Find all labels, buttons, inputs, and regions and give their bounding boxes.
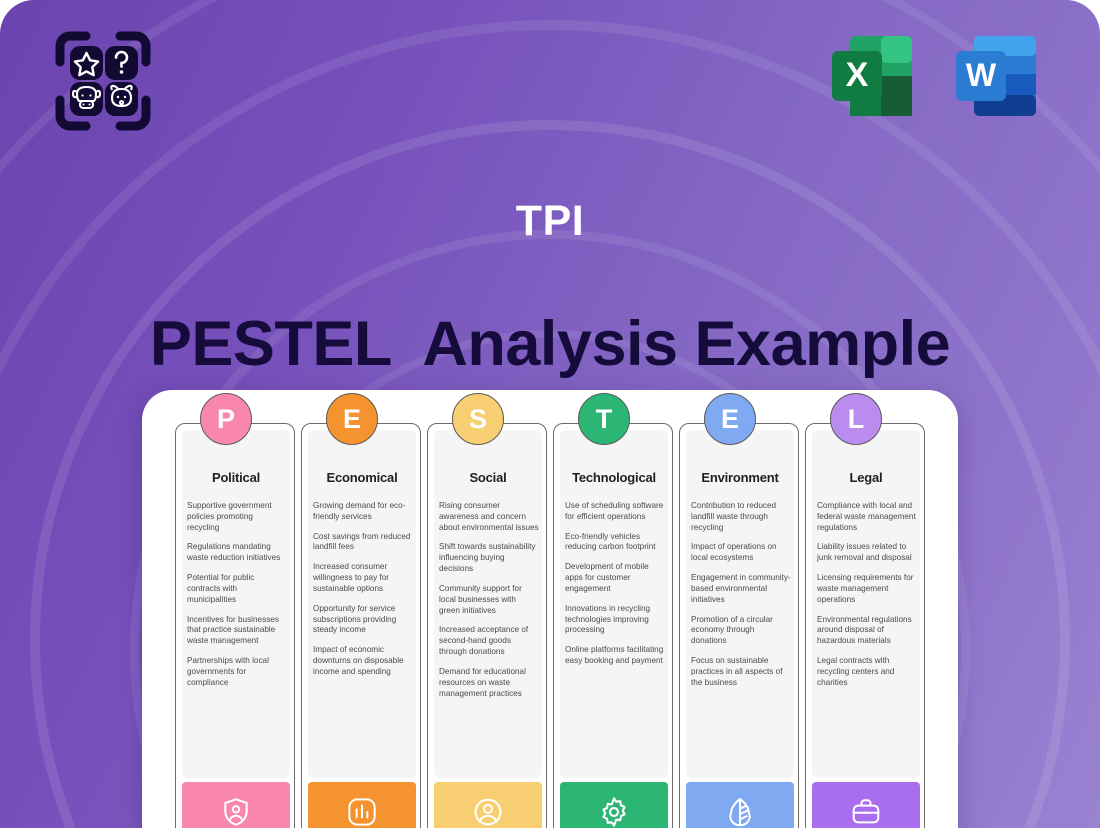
list-item: Partnerships with local governments for … — [187, 656, 287, 688]
column-bullet-list: Use of scheduling software for efficient… — [565, 501, 665, 676]
word-icon-letter: W — [966, 57, 997, 93]
list-item: Legal contracts with recycling centers a… — [817, 656, 917, 688]
list-item: Compliance with local and federal waste … — [817, 501, 917, 533]
pestel-column: EnvironmentContribution to reduced landf… — [676, 423, 802, 828]
list-item: Online platforms facilitating easy booki… — [565, 645, 665, 667]
pestel-column: LegalCompliance with local and federal w… — [802, 423, 928, 828]
list-item: Innovations in recycling technologies im… — [565, 604, 665, 636]
list-item: Demand for educational resources on wast… — [439, 667, 539, 699]
column-bullet-list: Supportive government policies promoting… — [187, 501, 287, 698]
list-item: Eco-friendly vehicles reducing carbon fo… — [565, 532, 665, 554]
pestel-column: PoliticalSupportive government policies … — [172, 423, 298, 828]
list-item: Regulations mandating waste reduction in… — [187, 542, 287, 564]
page-title: PESTEL Analysis Example — [0, 310, 1100, 379]
list-item: Environmental regulations around disposa… — [817, 615, 917, 647]
list-item: Development of mobile apps for customer … — [565, 562, 665, 594]
presentation-slide: X W TPI PESTEL Analysis Example Politica… — [0, 0, 1100, 828]
column-card-environment[interactable]: EnvironmentContribution to reduced landf… — [679, 423, 799, 828]
column-bullet-list: Compliance with local and federal waste … — [817, 501, 917, 698]
excel-icon[interactable]: X — [822, 26, 922, 126]
column-letter-badge: S — [452, 393, 504, 445]
excel-icon-letter: X — [846, 56, 869, 94]
column-letter-badge: E — [326, 393, 378, 445]
list-item: Impact of economic downturns on disposab… — [313, 645, 413, 677]
column-footer — [434, 782, 542, 828]
list-item: Supportive government policies promoting… — [187, 501, 287, 533]
list-item: Increased acceptance of second-hand good… — [439, 625, 539, 657]
column-card-political[interactable]: PoliticalSupportive government policies … — [175, 423, 295, 828]
list-item: Focus on sustainable practices in all as… — [691, 656, 791, 688]
list-item: Growing demand for eco-friendly services — [313, 501, 413, 523]
column-footer — [812, 782, 920, 828]
column-title: Economical — [302, 470, 421, 485]
shield-person-icon — [220, 796, 252, 828]
column-letter-badge: P — [200, 393, 252, 445]
column-bullet-list: Growing demand for eco-friendly services… — [313, 501, 413, 687]
list-item: Promotion of a circular economy through … — [691, 615, 791, 647]
leaf-icon — [724, 796, 756, 828]
column-footer — [308, 782, 416, 828]
list-item: Community support for local businesses w… — [439, 584, 539, 616]
column-card-social[interactable]: SocialRising consumer awareness and conc… — [427, 423, 547, 828]
list-item: Rising consumer awareness and concern ab… — [439, 501, 539, 533]
list-item: Contribution to reduced landfill waste t… — [691, 501, 791, 533]
column-title: Technological — [554, 470, 673, 485]
column-letter-badge: T — [578, 393, 630, 445]
pestel-column: TechnologicalUse of scheduling software … — [550, 423, 676, 828]
list-item: Use of scheduling software for efficient… — [565, 501, 665, 523]
briefcase-icon — [850, 796, 882, 828]
column-letter-badge: L — [830, 393, 882, 445]
tpi-scan-logo — [50, 26, 156, 136]
pestel-column: SocialRising consumer awareness and conc… — [424, 423, 550, 828]
list-item: Engagement in community-based environmen… — [691, 573, 791, 605]
list-item: Incentives for businesses that practice … — [187, 615, 287, 647]
column-footer — [182, 782, 290, 828]
list-item: Shift towards sustainability influencing… — [439, 542, 539, 574]
list-item: Liability issues related to junk removal… — [817, 542, 917, 564]
column-card-legal[interactable]: LegalCompliance with local and federal w… — [805, 423, 925, 828]
column-title: Legal — [806, 470, 925, 485]
gear-icon — [598, 796, 630, 828]
list-item: Potential for public contracts with muni… — [187, 573, 287, 605]
column-card-economical[interactable]: EconomicalGrowing demand for eco-friendl… — [301, 423, 421, 828]
list-item: Increased consumer willingness to pay fo… — [313, 562, 413, 594]
list-item: Opportunity for service subscriptions pr… — [313, 604, 413, 636]
column-footer — [686, 782, 794, 828]
column-title: Environment — [680, 470, 799, 485]
list-item: Impact of operations on local ecosystems — [691, 542, 791, 564]
column-title: Social — [428, 470, 547, 485]
column-footer — [560, 782, 668, 828]
pestel-columns: PoliticalSupportive government policies … — [172, 423, 928, 828]
pestel-board: PoliticalSupportive government policies … — [142, 390, 958, 828]
column-title: Political — [176, 470, 295, 485]
column-card-technological[interactable]: TechnologicalUse of scheduling software … — [553, 423, 673, 828]
bar-chart-icon — [346, 796, 378, 828]
eyebrow-title: TPI — [0, 200, 1100, 243]
list-item: Cost savings from reduced landfill fees — [313, 532, 413, 554]
word-icon[interactable]: W — [946, 26, 1046, 126]
column-bullet-list: Rising consumer awareness and concern ab… — [439, 501, 539, 708]
user-circle-icon — [472, 796, 504, 828]
column-bullet-list: Contribution to reduced landfill waste t… — [691, 501, 791, 698]
list-item: Licensing requirements for waste managem… — [817, 573, 917, 605]
column-letter-badge: E — [704, 393, 756, 445]
pestel-column: EconomicalGrowing demand for eco-friendl… — [298, 423, 424, 828]
